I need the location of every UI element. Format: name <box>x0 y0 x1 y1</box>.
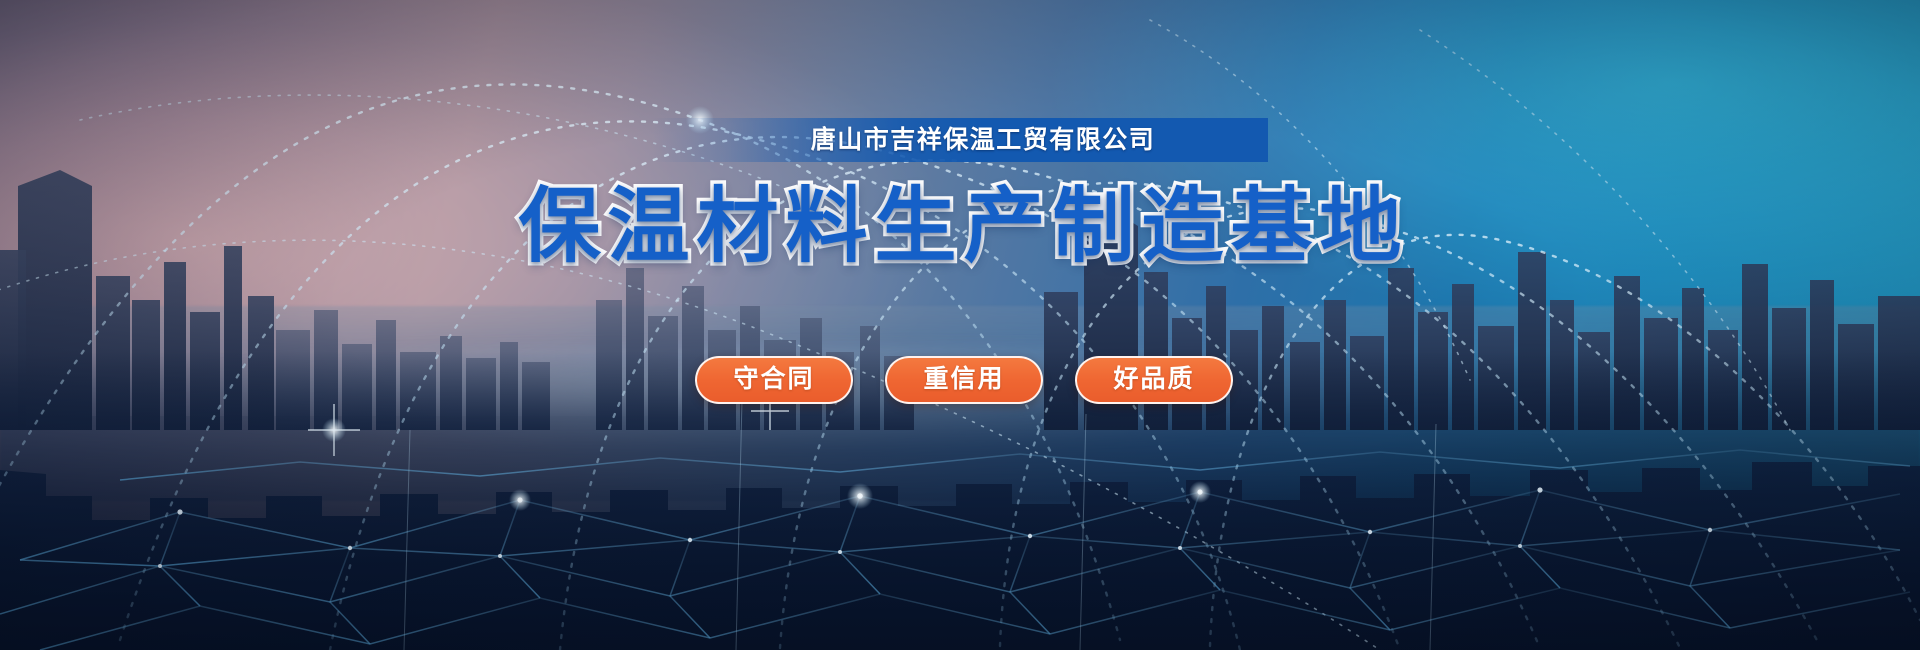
badge-zhong-xin-yong[interactable]: 重信用 <box>885 356 1043 404</box>
badge-label: 守合同 <box>733 367 814 392</box>
company-name-bar: 唐山市吉祥保温工贸有限公司 <box>652 118 1268 162</box>
badge-shou-he-tong[interactable]: 守合同 <box>695 356 853 404</box>
hero-banner: 唐山市吉祥保温工贸有限公司 保温材料生产制造基地 守合同 重信用 好品质 <box>0 0 1920 650</box>
badge-label: 重信用 <box>923 367 1004 392</box>
badge-group: 守合同 重信用 好品质 <box>687 356 1233 404</box>
banner-content: 唐山市吉祥保温工贸有限公司 保温材料生产制造基地 守合同 重信用 好品质 <box>0 0 1920 650</box>
company-name: 唐山市吉祥保温工贸有限公司 <box>765 128 1156 153</box>
headline-title: 保温材料生产制造基地 <box>511 184 1408 271</box>
badge-label: 好品质 <box>1113 367 1194 392</box>
badge-hao-pin-zhi[interactable]: 好品质 <box>1075 356 1233 404</box>
